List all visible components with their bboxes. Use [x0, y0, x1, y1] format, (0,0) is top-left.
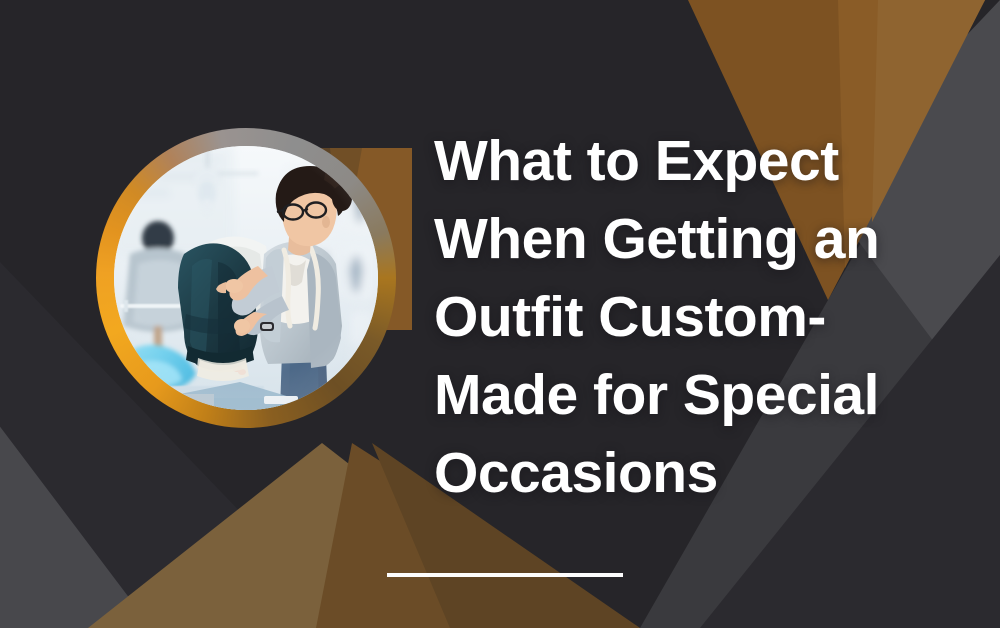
title-divider-rule: [387, 573, 623, 577]
atelier-photo: [114, 146, 378, 410]
page-title: What to Expect When Getting an Outfit Cu…: [434, 122, 914, 512]
medallion-photo-frame: [114, 146, 378, 410]
featured-image-canvas: What to Expect When Getting an Outfit Cu…: [0, 0, 1000, 628]
medallion-ring: [96, 128, 396, 428]
